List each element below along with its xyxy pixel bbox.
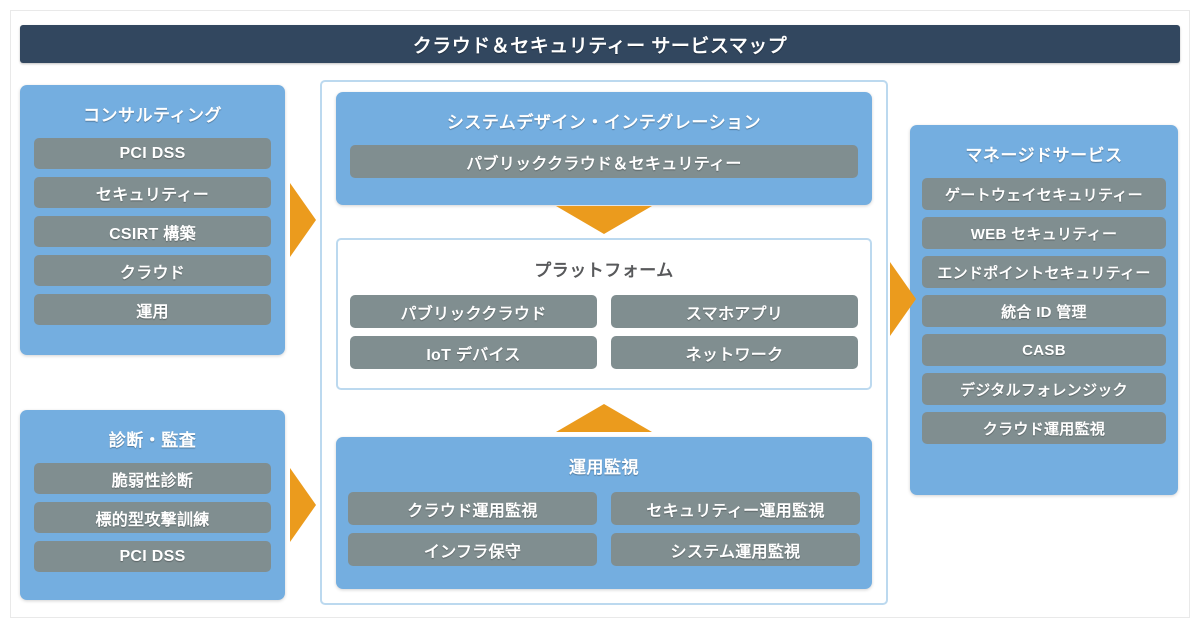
- chip-monitoring-system[interactable]: システム運用監視: [611, 533, 860, 566]
- chip-audit-vulnerability[interactable]: 脆弱性診断: [34, 463, 271, 494]
- panel-system-design-heading: システムデザイン・インテグレーション: [350, 108, 858, 133]
- chip-monitoring-cloud[interactable]: クラウド運用監視: [348, 492, 597, 525]
- panel-audit: 診断・監査 脆弱性診断 標的型攻撃訓練 PCI DSS: [20, 410, 285, 600]
- arrow-down-icon-design-to-platform: [556, 206, 652, 234]
- panel-system-design-integration: システムデザイン・インテグレーション パブリッククラウド＆セキュリティー: [336, 92, 872, 205]
- panel-managed-service-heading: マネージドサービス: [922, 141, 1166, 166]
- panel-platform: プラットフォーム パブリッククラウド スマホアプリ IoT デバイス ネットワー…: [336, 238, 872, 390]
- platform-chip-grid: パブリッククラウド スマホアプリ IoT デバイス ネットワーク: [350, 295, 858, 369]
- chip-consulting-security[interactable]: セキュリティー: [34, 177, 271, 208]
- chip-platform-iot-device[interactable]: IoT デバイス: [350, 336, 597, 369]
- chip-managed-digital-forensics[interactable]: デジタルフォレンジック: [922, 373, 1166, 405]
- arrow-up-icon-platform-to-monitoring: [556, 404, 652, 432]
- panel-operation-monitoring: 運用監視 クラウド運用監視 セキュリティー運用監視 インフラ保守 システム運用監…: [336, 437, 872, 589]
- panel-platform-heading: プラットフォーム: [350, 256, 858, 281]
- arrow-right-icon-center-to-managed: [890, 262, 916, 336]
- panel-managed-service: マネージドサービス ゲートウェイセキュリティー WEB セキュリティー エンドポ…: [910, 125, 1178, 495]
- chip-audit-targeted-attack-training[interactable]: 標的型攻撃訓練: [34, 502, 271, 533]
- chip-platform-smartphone-app[interactable]: スマホアプリ: [611, 295, 858, 328]
- chip-public-cloud-and-security[interactable]: パブリッククラウド＆セキュリティー: [350, 145, 858, 178]
- chip-managed-web-security[interactable]: WEB セキュリティー: [922, 217, 1166, 249]
- panel-audit-heading: 診断・監査: [34, 426, 271, 451]
- chip-monitoring-infra-maintenance[interactable]: インフラ保守: [348, 533, 597, 566]
- diagram-title-bar: クラウド＆セキュリティー サービスマップ: [20, 25, 1180, 63]
- chip-managed-endpoint-security[interactable]: エンドポイントセキュリティー: [922, 256, 1166, 288]
- chip-monitoring-security[interactable]: セキュリティー運用監視: [611, 492, 860, 525]
- chip-managed-integrated-id-management[interactable]: 統合 ID 管理: [922, 295, 1166, 327]
- chip-consulting-csirt[interactable]: CSIRT 構築: [34, 216, 271, 247]
- monitoring-chip-grid: クラウド運用監視 セキュリティー運用監視 インフラ保守 システム運用監視: [348, 492, 860, 566]
- page-title: クラウド＆セキュリティー サービスマップ: [413, 31, 788, 58]
- chip-consulting-operations[interactable]: 運用: [34, 294, 271, 325]
- chip-consulting-pci-dss[interactable]: PCI DSS: [34, 138, 271, 169]
- chip-platform-network[interactable]: ネットワーク: [611, 336, 858, 369]
- chip-managed-cloud-monitoring[interactable]: クラウド運用監視: [922, 412, 1166, 444]
- arrow-right-icon-audit-to-center: [290, 468, 316, 542]
- panel-consulting: コンサルティング PCI DSS セキュリティー CSIRT 構築 クラウド 運…: [20, 85, 285, 355]
- chip-managed-gateway-security[interactable]: ゲートウェイセキュリティー: [922, 178, 1166, 210]
- service-map-diagram: クラウド＆セキュリティー サービスマップ コンサルティング PCI DSS セキ…: [0, 0, 1200, 630]
- panel-monitoring-heading: 運用監視: [348, 453, 860, 478]
- arrow-right-icon-consulting-to-center: [290, 183, 316, 257]
- chip-managed-casb[interactable]: CASB: [922, 334, 1166, 366]
- panel-consulting-heading: コンサルティング: [34, 101, 271, 126]
- chip-audit-pci-dss[interactable]: PCI DSS: [34, 541, 271, 572]
- chip-platform-public-cloud[interactable]: パブリッククラウド: [350, 295, 597, 328]
- chip-consulting-cloud[interactable]: クラウド: [34, 255, 271, 286]
